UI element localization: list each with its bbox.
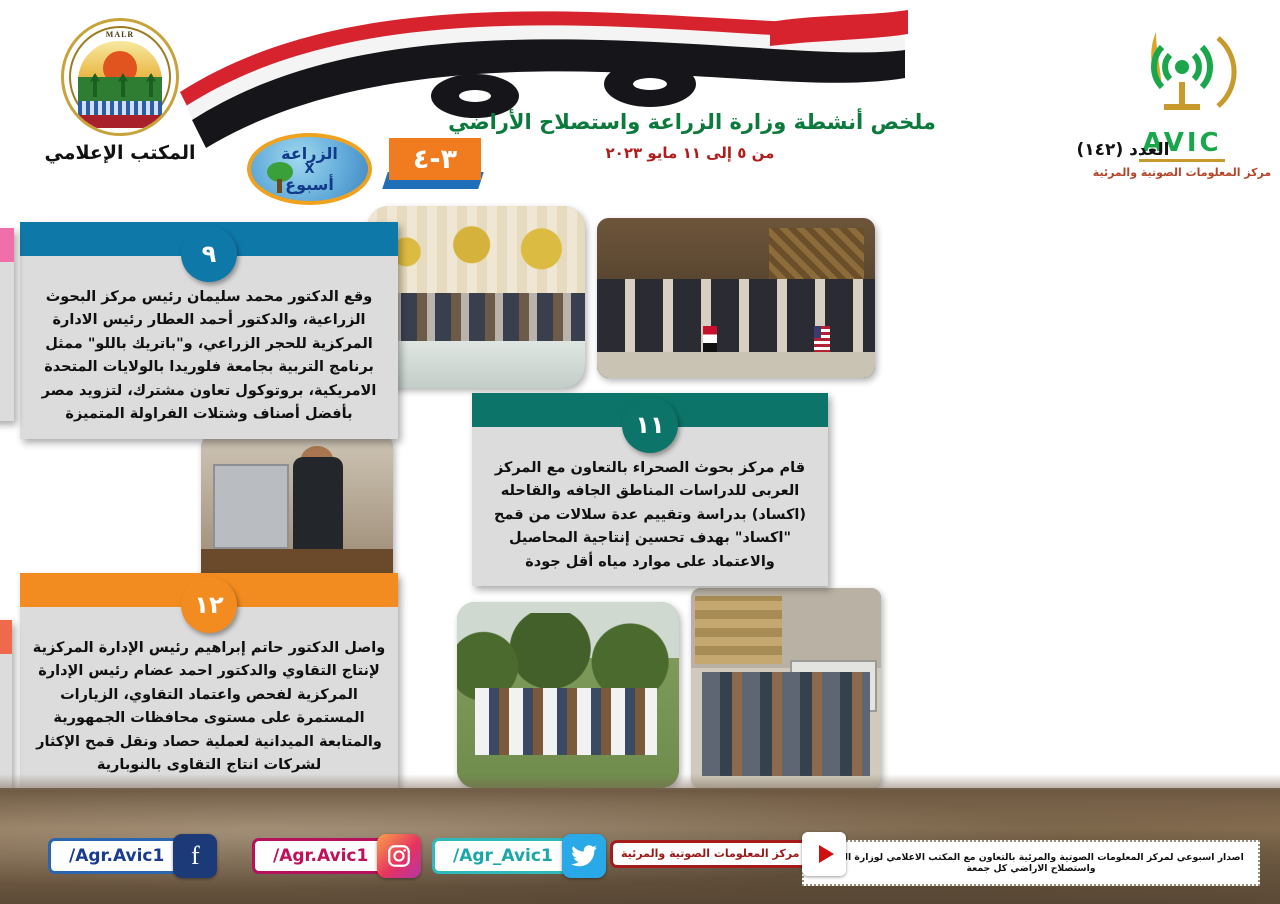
page-header: MALR المكتب الإعلامي [0, 0, 1280, 200]
photo-meeting-hall [367, 206, 585, 388]
page-title: ملخص أنشطة وزارة الزراعة واستصلاح الأراض… [372, 110, 1012, 134]
card-body-text: واصل الدكتور حاتم إبراهيم رئيس الإدارة ا… [20, 607, 398, 790]
social-link-instagram[interactable]: /Agr.Avic1 [252, 834, 421, 878]
card-header-bar: ١٠ [0, 228, 14, 262]
photo-protocol-signing [597, 218, 875, 378]
news-card-12: ١٢ واصل الدكتور حاتم إبراهيم رئيس الإدار… [20, 573, 398, 790]
agriculture-week-badge: الزراعة X أسبوع [247, 133, 372, 205]
instagram-icon [377, 834, 421, 878]
card-header-bar: ١٣ [0, 620, 12, 654]
infographic-page: MALR المكتب الإعلامي [0, 0, 1280, 904]
footer-disclaimer: اصدار اسبوعي لمركز المعلومات الصوتية وال… [802, 840, 1260, 886]
youtube-icon [802, 832, 846, 876]
news-card-10: ١٠ افتتح اللواء عادل الغضبان محافظ بورسع… [0, 228, 14, 421]
facebook-handle: /Agr.Avic1 [48, 838, 181, 874]
social-link-youtube[interactable]: مركز المعلومات الصوتية والمرئية [610, 832, 846, 876]
facebook-icon: f [173, 834, 217, 878]
card-header-bar: ٩ [20, 222, 398, 256]
card-number-badge: ١١ [622, 397, 678, 453]
issue-number: العدد (١٤٢) [1028, 140, 1218, 160]
tree-icon [265, 162, 295, 194]
twitter-handle: /Agr_Avic1 [432, 838, 570, 874]
card-body-text: قام الدكتور احمد رزق رئيس الإدارة المركز… [0, 654, 12, 790]
photo-wheat-sacks-loading [691, 588, 881, 788]
badge-line-1: الزراعة [281, 146, 338, 162]
page-number-plate: ٣-٤ [385, 138, 481, 190]
card-header-bar: ١٢ [20, 573, 398, 607]
photo-olive-grove-inspection [457, 602, 679, 788]
card-body-text: وقع الدكتور محمد سليمان رئيس مركز البحوث… [20, 256, 398, 439]
youtube-handle: مركز المعلومات الصوتية والمرئية [610, 840, 810, 867]
instagram-handle: /Agr.Avic1 [252, 838, 385, 874]
badge-multiply-symbol: X [304, 163, 314, 176]
news-card-13: ١٣ قام الدكتور احمد رزق رئيس الإدارة الم… [0, 620, 12, 790]
page-number-value: ٣-٤ [389, 138, 481, 180]
news-card-11: ١١ قام مركز بحوث الصحراء بالتعاون مع الم… [472, 393, 828, 586]
social-link-facebook[interactable]: f /Agr.Avic1 [48, 834, 217, 878]
avic-subtitle: مركز المعلومات الصوتية والمرئية [1092, 166, 1272, 179]
card-header-bar: ١١ [472, 393, 828, 427]
malr-seal-icon: MALR [61, 18, 179, 136]
malr-initials: MALR [64, 30, 176, 39]
avic-antenna-icon [1126, 22, 1238, 132]
card-number-badge: ١٢ [181, 577, 237, 633]
disclaimer-text: اصدار اسبوعي لمركز المعلومات الصوتية وال… [804, 852, 1258, 874]
social-link-twitter[interactable]: /Agr_Avic1 [432, 834, 606, 878]
card-number-badge: ٩ [181, 226, 237, 282]
news-card-9: ٩ وقع الدكتور محمد سليمان رئيس مركز البح… [20, 222, 398, 439]
twitter-icon [562, 834, 606, 878]
date-range: من ٥ إلى ١١ مايو ٢٠٢٣ [460, 144, 920, 162]
card-body-text: افتتح اللواء عادل الغضبان محافظ بورسعيد … [0, 262, 14, 421]
